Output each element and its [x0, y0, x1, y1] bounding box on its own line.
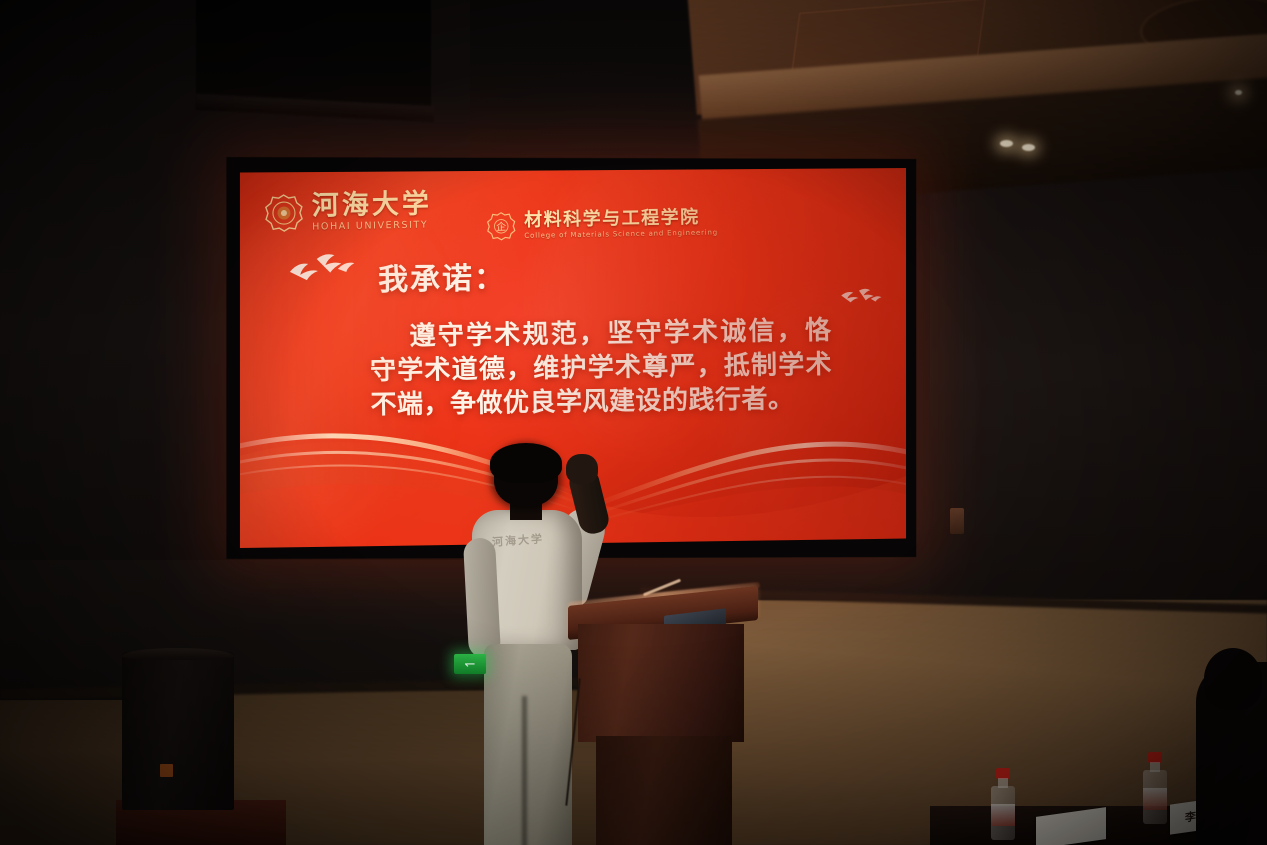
- slide-header: 河海大学 HOHAI UNIVERSITY 企 材料科学与工程学院 Colleg…: [264, 179, 885, 248]
- podium-base: [596, 736, 732, 845]
- ceiling-spotlight: [1022, 144, 1035, 151]
- right-wall: [930, 120, 1267, 620]
- dove-icon: [839, 286, 889, 313]
- university-logo: 河海大学 HOHAI UNIVERSITY: [264, 190, 433, 233]
- university-name-en: HOHAI UNIVERSITY: [312, 221, 432, 233]
- bottle-label: [1143, 788, 1167, 810]
- wall-switch-icon[interactable]: [950, 508, 964, 534]
- university-name-cn: 河海大学: [312, 191, 432, 220]
- auditorium-photo: 河海大学 HOHAI UNIVERSITY 企 材料科学与工程学院 Colleg…: [0, 0, 1267, 845]
- speaker-brand-logo-icon: [160, 764, 173, 777]
- speaker-top: [122, 648, 234, 660]
- ceiling-spotlight: [1235, 90, 1242, 95]
- ceiling-projector-box: [196, 0, 431, 110]
- hohai-university-seal-icon: [264, 193, 305, 234]
- college-logo: 企 材料科学与工程学院 College of Materials Science…: [486, 207, 718, 241]
- college-seal-icon: 企: [486, 211, 517, 242]
- water-bottle: [990, 768, 1016, 840]
- college-name-en: College of Materials Science and Enginee…: [524, 229, 718, 239]
- svg-text:企: 企: [496, 220, 506, 233]
- slide-headline: 我承诺：: [378, 253, 507, 299]
- college-name-cn: 材料科学与工程学院: [524, 208, 718, 229]
- exit-sign: ↽: [454, 654, 486, 674]
- dove-icon: [286, 248, 368, 294]
- loudspeaker-cabinet: [122, 652, 234, 810]
- hair: [490, 443, 562, 483]
- raised-fist: [566, 454, 598, 484]
- water-bottle: [1142, 752, 1168, 824]
- seated-person-head: [1204, 648, 1262, 710]
- lowered-arm: [463, 537, 501, 659]
- exit-arrow-icon: ↽: [465, 658, 476, 671]
- podium-body: [578, 624, 744, 742]
- ceiling-spotlight: [1000, 140, 1013, 147]
- leg-separation: [522, 696, 527, 845]
- bottle-label: [991, 804, 1015, 826]
- legs: [484, 644, 572, 845]
